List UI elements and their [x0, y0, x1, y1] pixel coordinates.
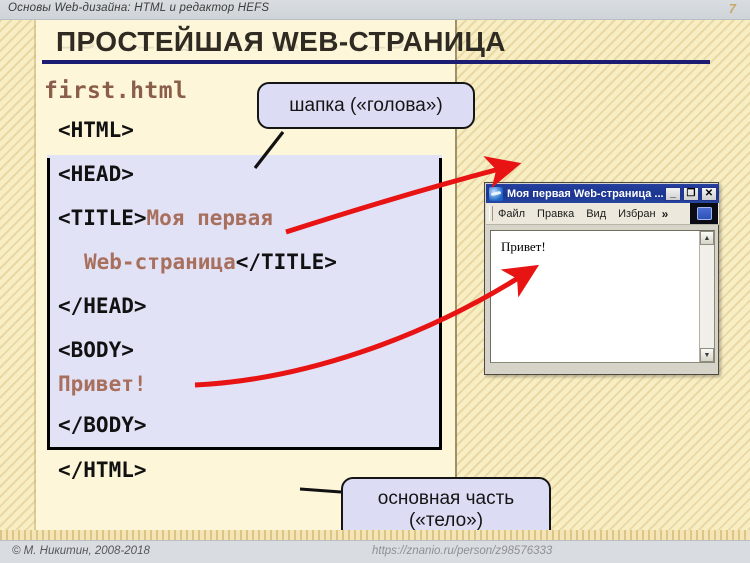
copyright-label: © М. Никитин, 2008-2018	[12, 545, 150, 557]
callout-head-label: шапка («голова»)	[289, 95, 442, 117]
callout-head: шапка («голова»)	[257, 82, 475, 129]
callout-body-label-line1: основная часть	[378, 488, 514, 510]
maximize-button[interactable]: ❐	[683, 187, 699, 201]
menu-item-edit[interactable]: Правка	[537, 208, 574, 220]
code-line-title-cont: Web-страница</TITLE>	[84, 250, 337, 274]
page-number: 7	[729, 1, 736, 16]
slide-canvas: Основы Web-дизайна: HTML и редактор HEFS…	[0, 0, 750, 563]
code-line-html-close: </HTML>	[58, 458, 147, 482]
code-listing: <HTML> <HEAD> <TITLE>Моя первая Web-стра…	[36, 110, 456, 490]
vertical-scrollbar[interactable]: ▲ ▼	[699, 231, 714, 362]
browser-window[interactable]: Моя первая Web-страница ... _ ❐ ✕ Файл П…	[484, 182, 719, 375]
callout-body-label-line2: («тело»)	[409, 510, 483, 532]
menubar-grip[interactable]	[489, 206, 493, 221]
left-texture-panel	[0, 20, 36, 540]
code-line-head-close: </HEAD>	[58, 294, 147, 318]
menu-overflow-icon[interactable]: »	[662, 207, 669, 221]
filename-label: first.html	[44, 78, 187, 104]
window-titlebar: Основы Web-дизайна: HTML и редактор HEFS…	[0, 0, 750, 20]
page-title: ПРОСТЕЙШАЯ WEB-СТРАНИЦА	[56, 26, 506, 58]
menu-item-favorites[interactable]: Избран	[618, 208, 655, 220]
code-inner-box-top	[47, 155, 442, 158]
footer-texture-strip	[0, 530, 750, 540]
browser-window-title: Моя первая Web-страница ...	[507, 188, 665, 200]
code-line-head-open: <HEAD>	[58, 162, 134, 186]
rendered-page-text: Привет!	[501, 239, 546, 255]
browser-app-icon	[489, 187, 503, 201]
scroll-up-icon[interactable]: ▲	[700, 231, 714, 245]
code-line-body-open: <BODY>	[58, 338, 134, 362]
browser-brand-logo	[690, 203, 718, 224]
code-line-title-open: <TITLE>Моя первая	[58, 206, 273, 230]
close-button[interactable]: ✕	[701, 187, 717, 201]
browser-menubar: Файл Правка Вид Избран »	[486, 203, 719, 225]
minimize-button[interactable]: _	[665, 187, 681, 201]
scroll-down-icon[interactable]: ▼	[700, 348, 714, 362]
browser-viewport: Привет! ▲ ▼	[490, 230, 715, 363]
browser-titlebar: Моя первая Web-страница ... _ ❐ ✕	[486, 184, 719, 203]
code-line-greeting: Привет!	[58, 372, 147, 396]
source-url-label: https://znanio.ru/person/z98576333	[372, 545, 552, 557]
footer-bar: © М. Никитин, 2008-2018 https://znanio.r…	[0, 540, 750, 563]
menu-item-view[interactable]: Вид	[586, 208, 606, 220]
presentation-title: Основы Web-дизайна: HTML и редактор HEFS	[8, 2, 269, 14]
title-underline	[42, 60, 710, 64]
code-line-body-close: </BODY>	[58, 413, 147, 437]
menu-item-file[interactable]: Файл	[498, 208, 525, 220]
code-line-html-open: <HTML>	[58, 118, 134, 142]
